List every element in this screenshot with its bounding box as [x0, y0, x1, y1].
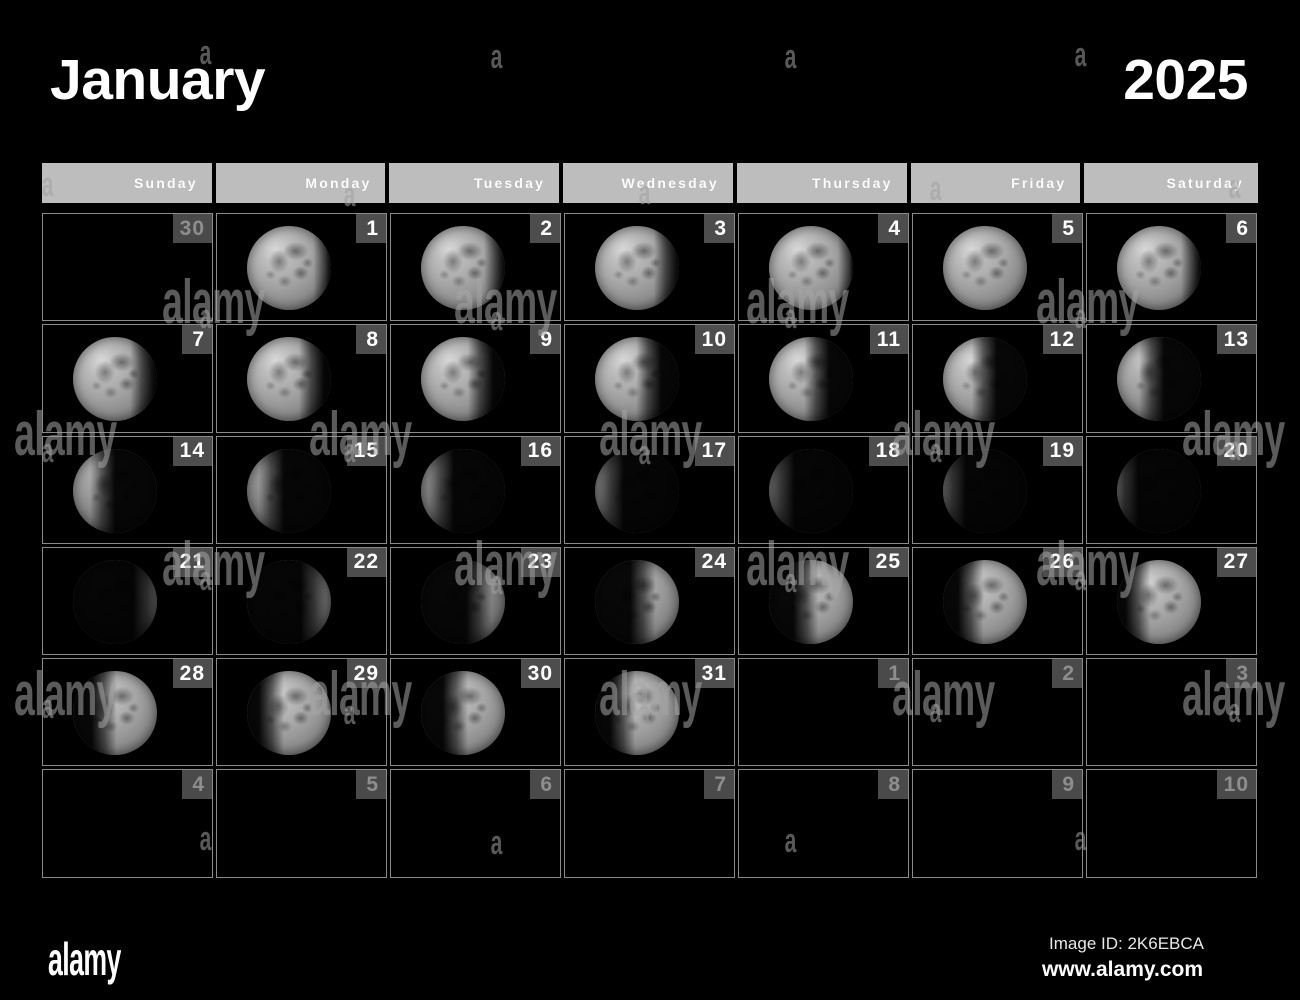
moon-disc	[943, 226, 1027, 310]
date-number-badge: 8	[878, 770, 908, 799]
moon-disc	[1117, 226, 1201, 310]
moon-disc	[943, 337, 1027, 421]
calendar-day-cell[interactable]: 22	[216, 547, 387, 655]
moon-disc	[247, 226, 331, 310]
date-number-badge: 8	[356, 325, 386, 354]
calendar-day-cell[interactable]: 21	[42, 547, 213, 655]
calendar-day-cell[interactable]: 9	[912, 769, 1083, 877]
date-number-badge: 7	[704, 770, 734, 799]
moon-disc	[1117, 560, 1201, 644]
weekday-header-row: SundayMondayTuesdayWednesdayThursdayFrid…	[42, 163, 1258, 203]
moon-disc	[73, 671, 157, 755]
calendar-day-cell[interactable]: 14	[42, 436, 213, 544]
moon-phase-icon	[73, 671, 157, 755]
calendar-day-cell[interactable]: 26	[912, 547, 1083, 655]
moon-phase-icon	[595, 449, 679, 533]
moon-phase-icon	[595, 671, 679, 755]
moon-disc	[595, 671, 679, 755]
weekday-header-wednesday: Wednesday	[563, 163, 737, 203]
date-number-badge: 30	[521, 659, 560, 688]
weekday-header-thursday: Thursday	[737, 163, 911, 203]
moon-phase-icon	[73, 560, 157, 644]
calendar-day-cell[interactable]: 10	[1086, 769, 1257, 877]
moon-disc	[769, 337, 853, 421]
weekday-label: Tuesday	[474, 175, 559, 191]
calendar-day-cell[interactable]: 15	[216, 436, 387, 544]
moon-phase-icon	[769, 226, 853, 310]
moon-disc	[421, 337, 505, 421]
calendar-day-cell[interactable]: 3	[564, 213, 735, 321]
moon-disc	[421, 560, 505, 644]
weekday-header-tuesday: Tuesday	[389, 163, 563, 203]
moon-disc	[247, 449, 331, 533]
date-number-badge: 5	[1052, 214, 1082, 243]
moon-disc	[1117, 337, 1201, 421]
weekday-label: Saturday	[1167, 175, 1259, 191]
calendar-day-cell[interactable]: 25	[738, 547, 909, 655]
date-number-badge: 16	[521, 437, 560, 466]
moon-phase-icon	[421, 226, 505, 310]
date-number-badge: 22	[347, 548, 386, 577]
date-number-badge: 11	[870, 325, 908, 354]
alamy-url-label: www.alamy.com	[1042, 958, 1203, 982]
moon-phase-icon	[247, 449, 331, 533]
moon-disc	[421, 449, 505, 533]
date-number-badge: 25	[869, 548, 908, 577]
moon-disc	[247, 671, 331, 755]
moon-phase-icon	[1117, 560, 1201, 644]
date-number-badge: 12	[1043, 325, 1082, 354]
footer-bar: alamy Image ID: 2K6EBCA www.alamy.com	[0, 908, 1300, 1000]
date-number-badge: 27	[1217, 548, 1256, 577]
moon-disc	[943, 560, 1027, 644]
date-number-badge: 10	[695, 325, 734, 354]
moon-disc	[595, 560, 679, 644]
calendar-day-cell[interactable]: 13	[1086, 324, 1257, 432]
moon-phase-icon	[943, 337, 1027, 421]
weekday-label: Wednesday	[622, 175, 733, 191]
date-number-badge: 19	[1043, 437, 1082, 466]
calendar-day-cell[interactable]: 24	[564, 547, 735, 655]
moon-phase-icon	[943, 560, 1027, 644]
moon-disc	[595, 226, 679, 310]
date-number-badge: 13	[1217, 325, 1256, 354]
alamy-logo: alamy	[48, 936, 121, 982]
moon-phase-icon	[769, 337, 853, 421]
page-title-year: 2025	[1123, 52, 1248, 109]
calendar-day-cell[interactable]: 16	[390, 436, 561, 544]
date-number-badge: 3	[1226, 659, 1256, 688]
date-number-badge: 17	[695, 437, 734, 466]
moon-phase-icon	[247, 337, 331, 421]
moon-disc	[769, 449, 853, 533]
calendar-day-cell[interactable]: 28	[42, 658, 213, 766]
calendar-day-cell[interactable]: 27	[1086, 547, 1257, 655]
moon-phase-icon	[421, 337, 505, 421]
date-number-badge: 28	[173, 659, 212, 688]
moon-phase-icon	[1117, 337, 1201, 421]
weekday-header-friday: Friday	[911, 163, 1085, 203]
date-number-badge: 31	[695, 659, 734, 688]
moon-disc	[73, 337, 157, 421]
date-number-badge: 26	[1043, 548, 1082, 577]
calendar-day-cell[interactable]: 5	[912, 213, 1083, 321]
weekday-label: Sunday	[134, 175, 212, 191]
weekday-header-monday: Monday	[216, 163, 390, 203]
calendar-day-cell[interactable]: 23	[390, 547, 561, 655]
calendar-day-cell[interactable]: 6	[1086, 213, 1257, 321]
date-number-badge: 7	[182, 325, 212, 354]
moon-phase-icon	[943, 449, 1027, 533]
calendar-day-cell[interactable]: 20	[1086, 436, 1257, 544]
date-number-badge: 3	[704, 214, 734, 243]
moon-disc	[73, 449, 157, 533]
date-number-badge: 18	[869, 437, 908, 466]
date-number-badge: 6	[530, 770, 560, 799]
moon-phase-icon	[421, 560, 505, 644]
date-number-badge: 4	[182, 770, 212, 799]
moon-phase-icon	[943, 226, 1027, 310]
moon-phase-icon	[247, 671, 331, 755]
moon-phase-icon	[73, 337, 157, 421]
date-number-badge: 20	[1217, 437, 1256, 466]
calendar-day-cell[interactable]: 19	[912, 436, 1083, 544]
date-number-badge: 1	[878, 659, 908, 688]
date-number-badge: 23	[521, 548, 560, 577]
moon-disc	[595, 337, 679, 421]
date-number-badge: 10	[1217, 770, 1256, 799]
moon-disc	[769, 226, 853, 310]
page-title-month: January	[50, 52, 265, 109]
calendar-day-cell[interactable]: 9	[390, 324, 561, 432]
calendar-day-cell[interactable]: 4	[42, 769, 213, 877]
calendar-day-cell[interactable]: 29	[216, 658, 387, 766]
calendar-day-cell[interactable]: 6	[390, 769, 561, 877]
calendar-day-cell[interactable]: 10	[564, 324, 735, 432]
moon-disc	[421, 671, 505, 755]
moon-phase-icon	[421, 671, 505, 755]
date-number-badge: 4	[878, 214, 908, 243]
calendar-day-cell[interactable]: 30	[42, 213, 213, 321]
date-number-badge: 30	[173, 214, 212, 243]
calendar-day-cell[interactable]: 17	[564, 436, 735, 544]
image-id-label: Image ID: 2K6EBCA	[1049, 934, 1204, 954]
calendar-grid: 3012345678910111213141516171819202122232…	[42, 213, 1258, 881]
calendar-day-cell[interactable]: 3	[1086, 658, 1257, 766]
moon-phase-icon	[595, 337, 679, 421]
calendar-header: January 2025	[0, 0, 1300, 150]
moon-phase-icon	[1117, 449, 1201, 533]
date-number-badge: 5	[356, 770, 386, 799]
calendar-day-cell[interactable]: 1	[738, 658, 909, 766]
calendar-day-cell[interactable]: 11	[738, 324, 909, 432]
calendar-day-cell[interactable]: 5	[216, 769, 387, 877]
calendar-day-cell[interactable]: 12	[912, 324, 1083, 432]
calendar-day-cell[interactable]: 7	[564, 769, 735, 877]
date-number-badge: 1	[356, 214, 386, 243]
weekday-label: Monday	[305, 175, 385, 191]
moon-phase-icon	[769, 560, 853, 644]
date-number-badge: 2	[1052, 659, 1082, 688]
moon-phase-icon	[73, 449, 157, 533]
calendar-day-cell[interactable]: 8	[216, 324, 387, 432]
date-number-badge: 29	[347, 659, 386, 688]
calendar-day-cell[interactable]: 1	[216, 213, 387, 321]
date-number-badge: 24	[695, 548, 734, 577]
calendar-day-cell[interactable]: 8	[738, 769, 909, 877]
date-number-badge: 9	[530, 325, 560, 354]
calendar-day-cell[interactable]: 2	[912, 658, 1083, 766]
weekday-label: Thursday	[812, 175, 907, 191]
moon-phase-icon	[1117, 226, 1201, 310]
moon-disc	[73, 560, 157, 644]
moon-phase-icon	[247, 560, 331, 644]
calendar-day-cell[interactable]: 2	[390, 213, 561, 321]
moon-disc	[421, 226, 505, 310]
date-number-badge: 21	[173, 548, 212, 577]
moon-disc	[247, 337, 331, 421]
date-number-badge: 15	[347, 437, 386, 466]
moon-disc	[943, 449, 1027, 533]
moon-disc	[769, 560, 853, 644]
moon-phase-icon	[421, 449, 505, 533]
moon-phase-icon	[247, 226, 331, 310]
calendar-day-cell[interactable]: 7	[42, 324, 213, 432]
date-number-badge: 2	[530, 214, 560, 243]
weekday-header-saturday: Saturday	[1084, 163, 1258, 203]
calendar-day-cell[interactable]: 31	[564, 658, 735, 766]
moon-phase-icon	[595, 560, 679, 644]
weekday-label: Friday	[1011, 175, 1080, 191]
moon-disc	[247, 560, 331, 644]
moon-phase-icon	[595, 226, 679, 310]
moon-disc	[1117, 449, 1201, 533]
moon-phase-icon	[769, 449, 853, 533]
weekday-header-sunday: Sunday	[42, 163, 216, 203]
calendar-day-cell[interactable]: 18	[738, 436, 909, 544]
date-number-badge: 14	[173, 437, 212, 466]
calendar-day-cell[interactable]: 30	[390, 658, 561, 766]
calendar-day-cell[interactable]: 4	[738, 213, 909, 321]
date-number-badge: 9	[1052, 770, 1082, 799]
moon-disc	[595, 449, 679, 533]
date-number-badge: 6	[1226, 214, 1256, 243]
